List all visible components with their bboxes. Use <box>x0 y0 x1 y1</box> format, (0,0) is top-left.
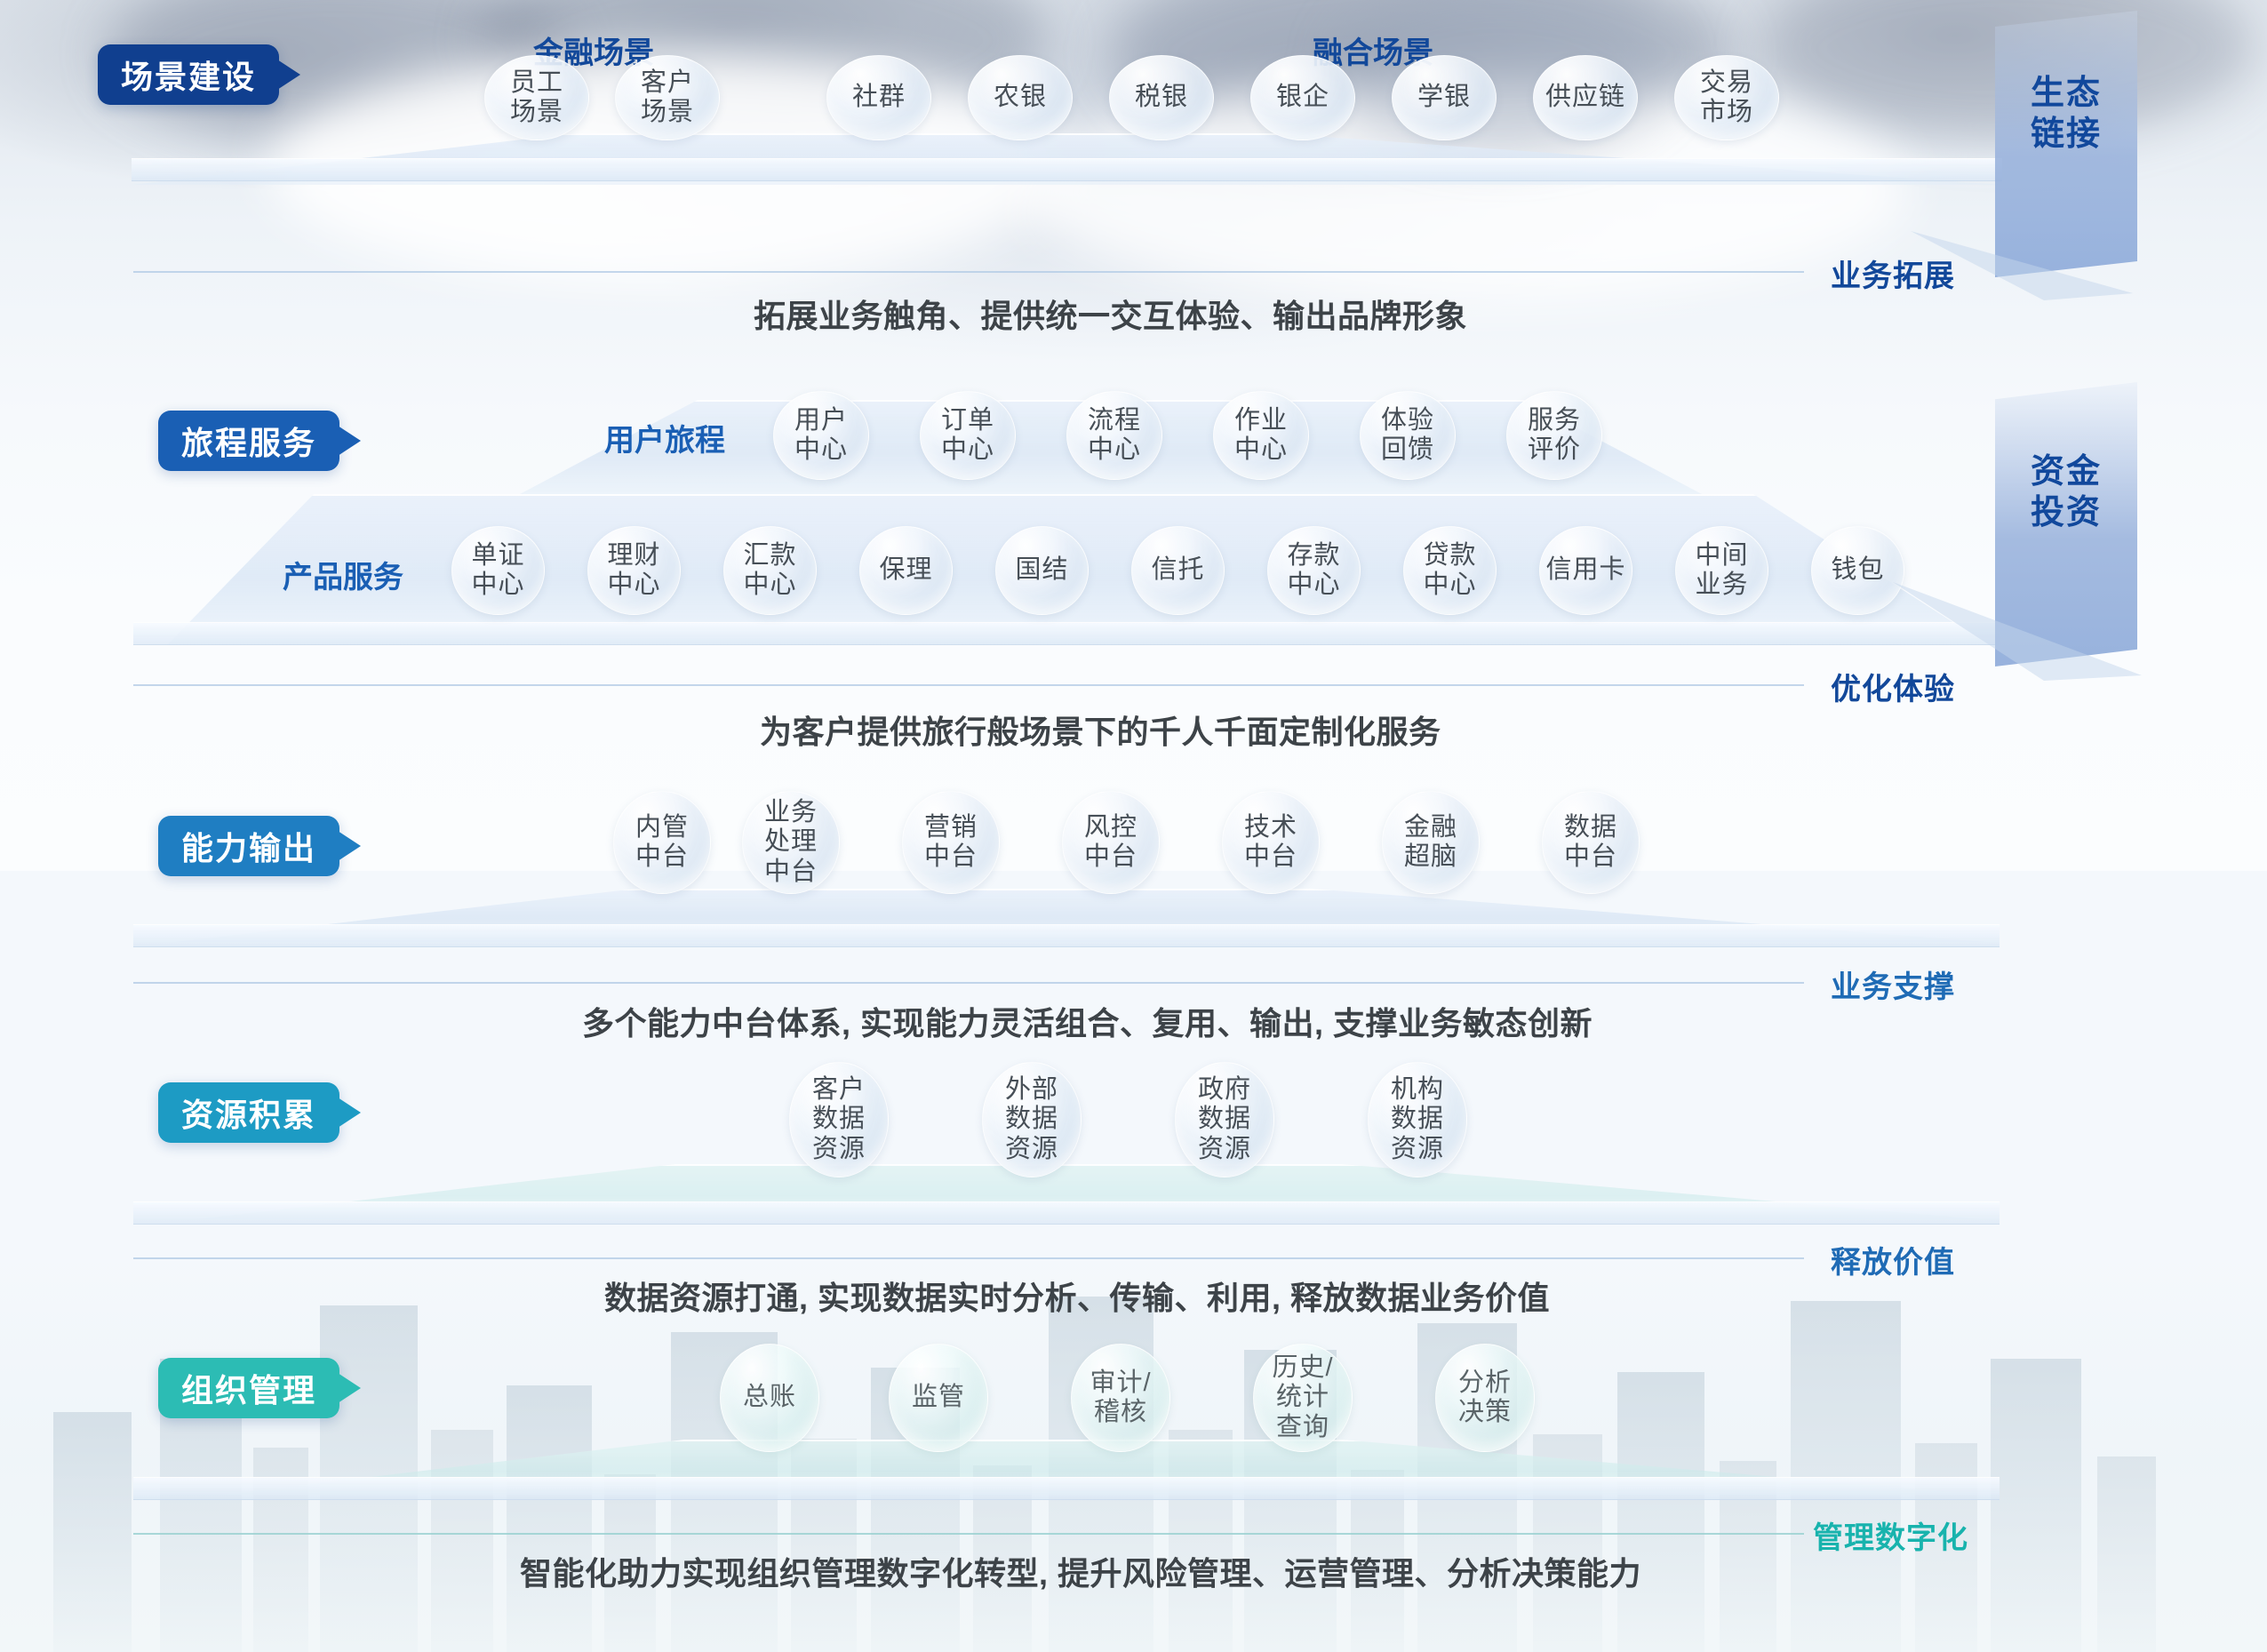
architecture-diagram: 场景建设 金融场景 融合场景 员工场景 客户场景 社群 农银 税银 银企 学银 … <box>0 0 2267 1652</box>
bubble-agri-bank[interactable]: 农银 <box>968 55 1073 140</box>
bubble-customer-data-resource[interactable]: 客户数据资源 <box>789 1062 889 1177</box>
bubble-wealth-center[interactable]: 理财中心 <box>587 526 681 615</box>
bubble-community[interactable]: 社群 <box>826 55 931 140</box>
bubble-tax-bank[interactable]: 税银 <box>1109 55 1214 140</box>
tier-edge-organization <box>133 1477 2000 1500</box>
tier-right-label-business-support: 业务支撑 <box>1831 962 1955 1006</box>
tier-right-label-management-digitalization: 管理数字化 <box>1813 1513 1968 1557</box>
tier-edge-scene <box>132 158 2002 181</box>
tier-tag-journey-service[interactable]: 旅程服务 <box>158 411 339 471</box>
tier-tag-capability-output[interactable]: 能力输出 <box>158 816 339 876</box>
bubble-supply-chain[interactable]: 供应链 <box>1533 55 1638 140</box>
bubble-institution-data-resource[interactable]: 机构数据资源 <box>1368 1062 1467 1177</box>
bubble-bank-enterprise[interactable]: 银企 <box>1250 55 1355 140</box>
bubble-finance-super-brain[interactable]: 金融超脑 <box>1382 791 1480 894</box>
group-head-user-journey: 用户旅程 <box>604 416 725 459</box>
bubble-experience-feedback[interactable]: 体验回馈 <box>1360 391 1456 480</box>
group-head-product-service: 产品服务 <box>283 553 403 596</box>
tier-edge-capability <box>133 924 2000 947</box>
side-panel-ecosystem-link-text: 生态 链接 <box>1995 73 2137 156</box>
bubble-trade-market[interactable]: 交易市场 <box>1674 55 1779 140</box>
side-arrow-capital <box>1893 569 2151 684</box>
bubble-service-rating[interactable]: 服务评价 <box>1506 391 1602 480</box>
bubble-loan-center[interactable]: 贷款中心 <box>1403 526 1497 615</box>
bubble-order-center[interactable]: 订单中心 <box>920 391 1016 480</box>
bubble-school-bank[interactable]: 学银 <box>1392 55 1497 140</box>
bubble-marketing-platform[interactable]: 营销中台 <box>902 791 1000 894</box>
bubble-internal-mgmt-platform[interactable]: 内管中台 <box>613 791 711 894</box>
tier-tag-scene-construction[interactable]: 场景建设 <box>98 44 279 105</box>
tier-edge-resource <box>133 1201 2000 1225</box>
tier-tag-resource-accumulation[interactable]: 资源积累 <box>158 1082 339 1143</box>
bubble-external-data-resource[interactable]: 外部数据资源 <box>982 1062 1082 1177</box>
side-arrow-ecosystem <box>1911 222 2142 302</box>
bubble-analysis-decision[interactable]: 分析决策 <box>1435 1344 1535 1452</box>
tier-right-label-release-value: 释放价值 <box>1831 1238 1955 1281</box>
bubble-risk-control-platform[interactable]: 风控中台 <box>1062 791 1160 894</box>
bubble-history-statistics-query[interactable]: 历史/统计查询 <box>1253 1344 1353 1452</box>
bubble-intl-settlement[interactable]: 国结 <box>995 526 1089 615</box>
tier-ribbon-line-scene <box>133 271 1804 273</box>
tier-ribbon-line-resource <box>133 1257 1804 1259</box>
bubble-business-process-platform[interactable]: 业务处理中台 <box>742 791 840 894</box>
bubble-operation-center[interactable]: 作业中心 <box>1213 391 1309 480</box>
tier-desc-scene: 拓展业务触角、提供统一交互体验、输出品牌形象 <box>754 291 1467 337</box>
bubble-factoring[interactable]: 保理 <box>859 526 953 615</box>
bubble-credit-card[interactable]: 信用卡 <box>1539 526 1632 615</box>
bubble-employee-scene[interactable]: 员工场景 <box>484 55 589 140</box>
bubble-wallet[interactable]: 钱包 <box>1811 526 1904 615</box>
tier-desc-capability: 多个能力中台体系, 实现能力灵活组合、复用、输出, 支撑业务敏态创新 <box>582 998 1592 1044</box>
bubble-trust[interactable]: 信托 <box>1131 526 1225 615</box>
bubble-technology-platform[interactable]: 技术中台 <box>1222 791 1320 894</box>
tier-edge-journey <box>133 622 2000 645</box>
tier-desc-resource: 数据资源打通, 实现数据实时分析、传输、利用, 释放数据业务价值 <box>604 1273 1550 1319</box>
bubble-process-center[interactable]: 流程中心 <box>1066 391 1162 480</box>
tier-desc-organization: 智能化助力实现组织管理数字化转型, 提升风险管理、运营管理、分析决策能力 <box>520 1548 1641 1594</box>
tier-tag-organization-management[interactable]: 组织管理 <box>158 1358 339 1418</box>
bubble-deposit-center[interactable]: 存款中心 <box>1267 526 1361 615</box>
tier-ribbon-line-journey <box>133 684 1804 686</box>
tier-ribbon-line-capability <box>133 982 1804 984</box>
bubble-data-platform[interactable]: 数据中台 <box>1542 791 1640 894</box>
bubble-document-center[interactable]: 单证中心 <box>451 526 545 615</box>
bubble-general-ledger[interactable]: 总账 <box>720 1344 819 1452</box>
bubble-audit-inspection[interactable]: 审计/稽核 <box>1071 1344 1170 1452</box>
tier-ribbon-line-organization <box>133 1533 1804 1535</box>
bubble-government-data-resource[interactable]: 政府数据资源 <box>1175 1062 1274 1177</box>
bubble-customer-scene[interactable]: 客户场景 <box>615 55 720 140</box>
bubble-supervision[interactable]: 监管 <box>889 1344 988 1452</box>
bubble-remittance-center[interactable]: 汇款中心 <box>723 526 817 615</box>
tier-desc-journey: 为客户提供旅行般场景下的千人千面定制化服务 <box>760 706 1441 753</box>
bubble-user-center[interactable]: 用户中心 <box>773 391 869 480</box>
side-panel-capital-investment-text: 资金 投资 <box>1995 451 2137 534</box>
bubble-intermediary-business[interactable]: 中间业务 <box>1675 526 1768 615</box>
